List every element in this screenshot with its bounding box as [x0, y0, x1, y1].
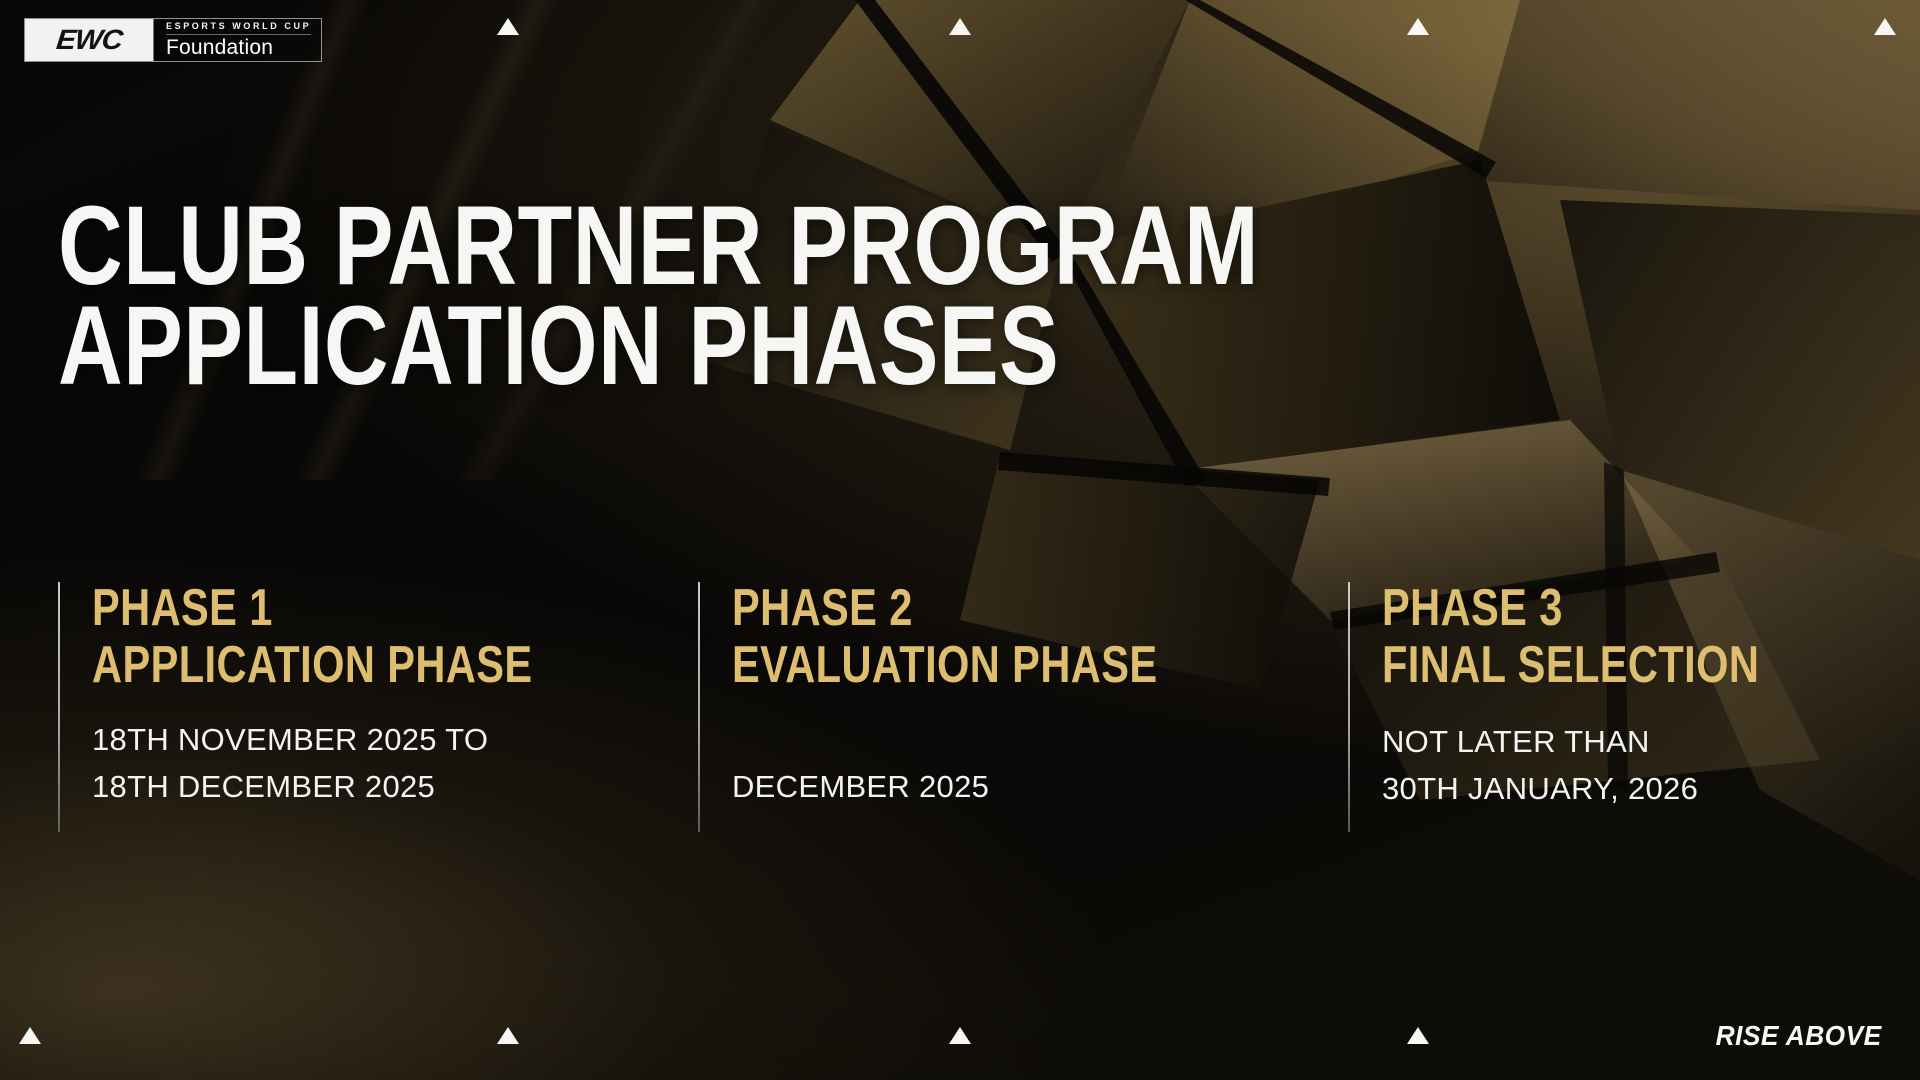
logo-foundation-label: Foundation	[166, 35, 311, 60]
logo-text-block: ESPORTS WORLD CUP Foundation	[153, 19, 321, 61]
phase-2-name: EVALUATION PHASE	[732, 636, 1225, 694]
triangle-marker-bottom-4	[1407, 1027, 1429, 1044]
phase-2-date-line-1: DECEMBER 2025	[732, 763, 1348, 810]
logo-esports-world-cup-label: ESPORTS WORLD CUP	[166, 20, 311, 35]
triangle-marker-bottom-2	[497, 1027, 519, 1044]
phase-1-name: APPLICATION PHASE	[92, 636, 577, 694]
phase-3-dates: NOT LATER THAN 30TH JANUARY, 2026	[1382, 718, 1828, 812]
triangle-marker-top-1	[497, 18, 519, 35]
phase-card-1: PHASE 1 APPLICATION PHASE 18TH NOVEMBER …	[58, 580, 698, 850]
phase-3-name: FINAL SELECTION	[1382, 636, 1739, 694]
phase-1-number: PHASE 1	[92, 580, 577, 636]
ewc-logo-mark: EWC	[25, 19, 153, 61]
phase-divider-rule-3	[1348, 582, 1350, 832]
phase-1-date-line-2: 18TH DECEMBER 2025	[92, 763, 698, 810]
page-title: CLUB PARTNER PROGRAM APPLICATION PHASES	[58, 196, 1559, 396]
phase-card-3: PHASE 3 FINAL SELECTION NOT LATER THAN 3…	[1348, 580, 1828, 850]
slide-canvas: EWC ESPORTS WORLD CUP Foundation CLUB PA…	[0, 0, 1920, 1080]
phase-3-date-line-1: NOT LATER THAN	[1382, 718, 1828, 765]
phase-divider-rule-1	[58, 582, 60, 832]
triangle-marker-top-3	[1407, 18, 1429, 35]
triangle-marker-top-2	[949, 18, 971, 35]
page-title-line-1: CLUB PARTNER PROGRAM	[58, 196, 1259, 296]
phase-columns: PHASE 1 APPLICATION PHASE 18TH NOVEMBER …	[58, 580, 1858, 850]
phase-1-dates: 18TH NOVEMBER 2025 TO 18TH DECEMBER 2025	[92, 716, 698, 810]
phase-3-date-line-2: 30TH JANUARY, 2026	[1382, 765, 1828, 812]
phase-card-2: PHASE 2 EVALUATION PHASE DECEMBER 2025	[698, 580, 1348, 850]
rise-above-tagline: RISE ABOVE	[1716, 1020, 1882, 1052]
phase-1-date-line-1: 18TH NOVEMBER 2025 TO	[92, 716, 698, 763]
triangle-marker-bottom-3	[949, 1027, 971, 1044]
phase-2-dates: DECEMBER 2025	[732, 763, 1348, 810]
page-title-line-2: APPLICATION PHASES	[58, 296, 1259, 396]
triangle-marker-bottom-1	[19, 1027, 41, 1044]
phase-divider-rule-2	[698, 582, 700, 832]
background-facets	[0, 0, 1920, 1080]
ewc-foundation-logo: EWC ESPORTS WORLD CUP Foundation	[24, 18, 322, 62]
triangle-marker-top-4	[1874, 18, 1896, 35]
phase-3-number: PHASE 3	[1382, 580, 1739, 636]
phase-2-number: PHASE 2	[732, 580, 1225, 636]
ewc-wordmark: EWC	[55, 24, 124, 56]
